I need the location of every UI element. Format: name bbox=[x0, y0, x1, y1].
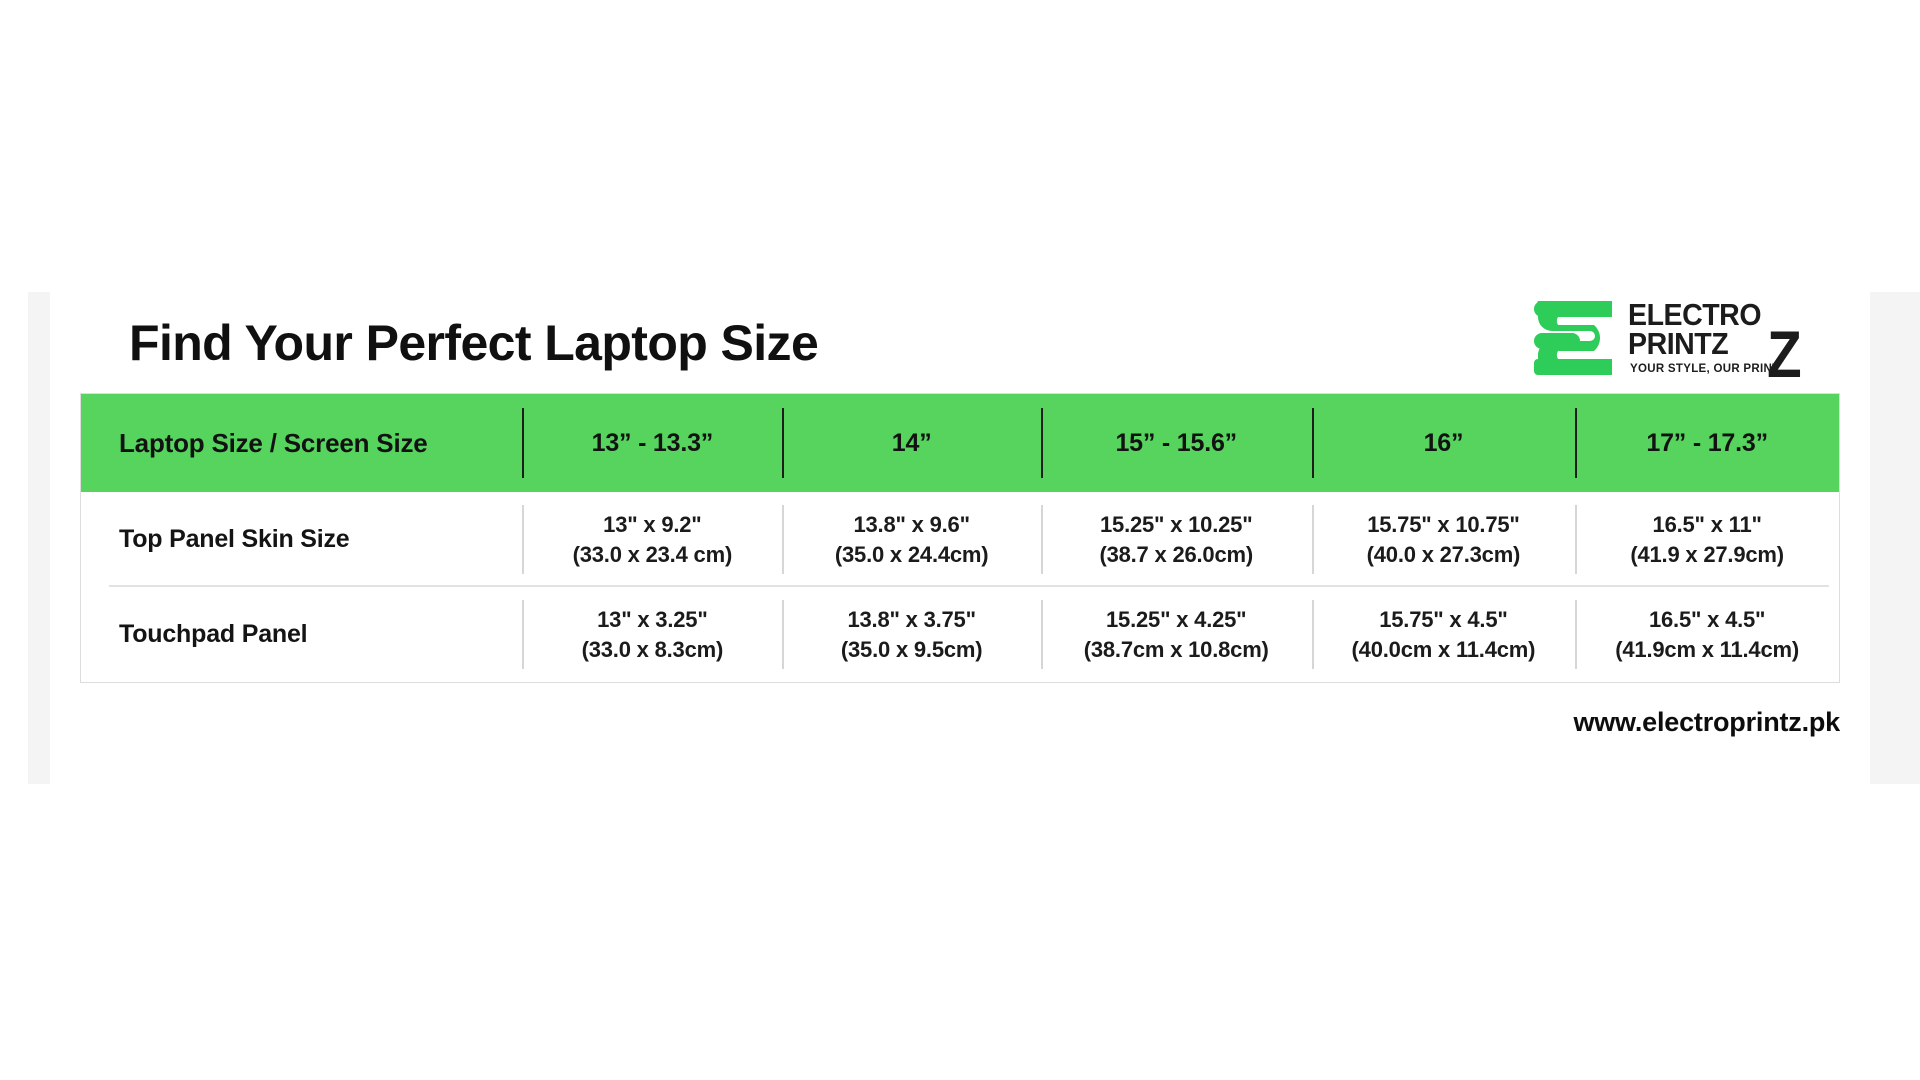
cell-touchpad-15: 15.25" x 4.25" (38.7cm x 10.8cm) bbox=[1041, 587, 1312, 682]
table-header-cell-15: 15” - 15.6” bbox=[1041, 394, 1312, 492]
table-row: Top Panel Skin Size 13" x 9.2" (33.0 x 2… bbox=[81, 492, 1839, 587]
table-header-cell-16: 16” bbox=[1312, 394, 1576, 492]
brand-tagline: YOUR STYLE, OUR PRINT bbox=[1630, 361, 1779, 375]
table-header-cell-row-label: Laptop Size / Screen Size bbox=[81, 394, 522, 492]
table-header-row: Laptop Size / Screen Size 13” - 13.3” 14… bbox=[81, 394, 1839, 492]
brand-line-printz: PRINTZ bbox=[1628, 328, 1728, 359]
table-row: Touchpad Panel 13" x 3.25" (33.0 x 8.3cm… bbox=[81, 587, 1839, 682]
page-title: Find Your Perfect Laptop Size bbox=[129, 314, 818, 372]
website-url: www.electroprintz.pk bbox=[1573, 707, 1840, 738]
cell-touchpad-17: 16.5" x 4.5" (41.9cm x 11.4cm) bbox=[1575, 587, 1839, 682]
brand-wordmark: ELECTRO PRINTZ Z YOUR STYLE, OUR PRINT bbox=[1628, 291, 1816, 383]
cell-touchpad-13: 13" x 3.25" (33.0 x 8.3cm) bbox=[522, 587, 782, 682]
cell-top-panel-14: 13.8" x 9.6" (35.0 x 24.4cm) bbox=[782, 492, 1040, 587]
page-background-band-left bbox=[28, 292, 50, 784]
cell-top-panel-17: 16.5" x 11" (41.9 x 27.9cm) bbox=[1575, 492, 1839, 587]
row-label-top-panel-skin-size: Top Panel Skin Size bbox=[81, 492, 522, 587]
cell-top-panel-13: 13" x 9.2" (33.0 x 23.4 cm) bbox=[522, 492, 782, 587]
laptop-size-table: Laptop Size / Screen Size 13” - 13.3” 14… bbox=[81, 394, 1839, 682]
electroprintz-e-mark-icon bbox=[1532, 297, 1618, 379]
sheet-header: Find Your Perfect Laptop Size ELECTRO PR… bbox=[80, 292, 1840, 400]
table-header-cell-13: 13” - 13.3” bbox=[522, 394, 782, 492]
page-background-band-right bbox=[1870, 292, 1920, 784]
table-header-cell-17: 17” - 17.3” bbox=[1575, 394, 1839, 492]
cell-top-panel-16: 15.75" x 10.75" (40.0 x 27.3cm) bbox=[1312, 492, 1576, 587]
table-header-cell-14: 14” bbox=[782, 394, 1040, 492]
row-label-touchpad-panel: Touchpad Panel bbox=[81, 587, 522, 682]
cell-touchpad-14: 13.8" x 3.75" (35.0 x 9.5cm) bbox=[782, 587, 1040, 682]
brand-logo: ELECTRO PRINTZ Z YOUR STYLE, OUR PRINT bbox=[1532, 291, 1814, 383]
size-chart-table-card: Laptop Size / Screen Size 13” - 13.3” 14… bbox=[80, 393, 1840, 683]
size-chart-canvas: Find Your Perfect Laptop Size ELECTRO PR… bbox=[50, 292, 1870, 784]
cell-top-panel-15: 15.25" x 10.25" (38.7 x 26.0cm) bbox=[1041, 492, 1312, 587]
brand-z-letter: Z bbox=[1767, 321, 1802, 387]
cell-touchpad-16: 15.75" x 4.5" (40.0cm x 11.4cm) bbox=[1312, 587, 1576, 682]
